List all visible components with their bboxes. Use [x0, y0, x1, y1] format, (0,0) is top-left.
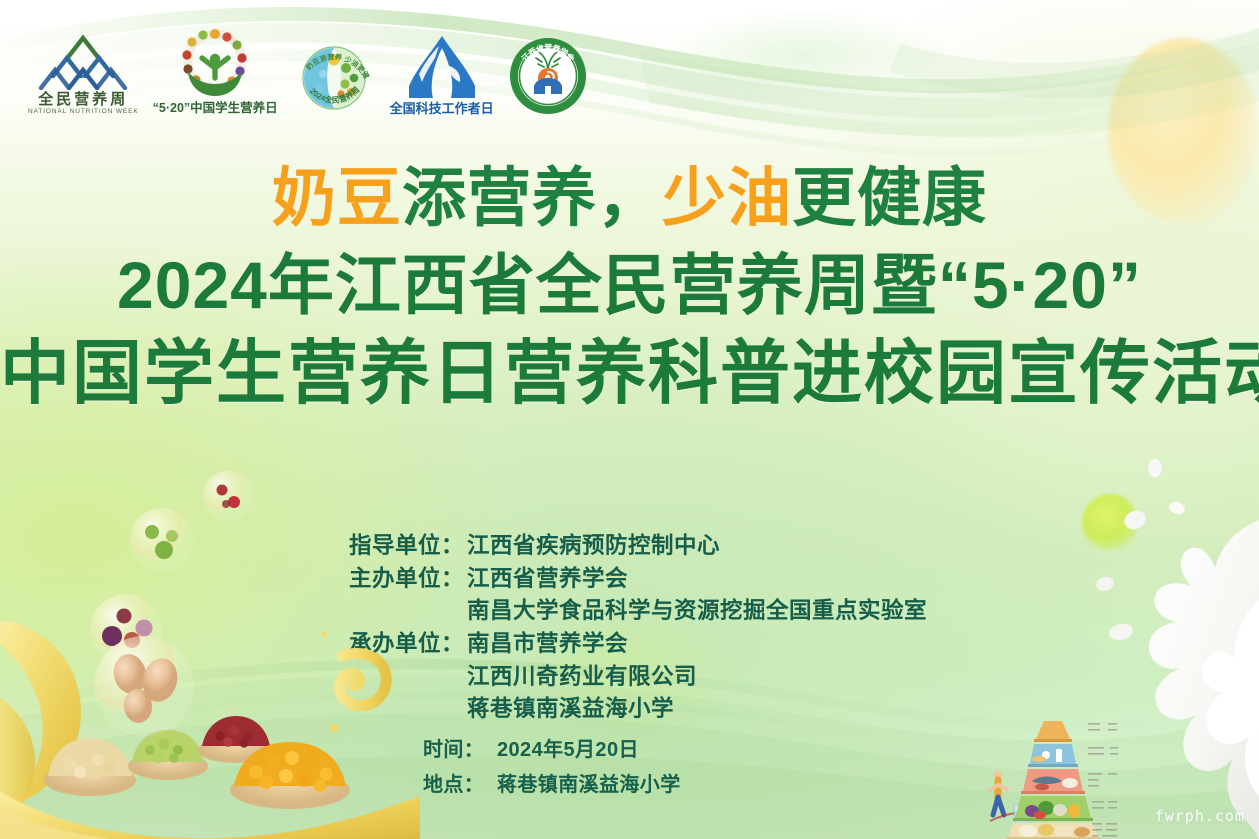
- credit-row: 承办单位： 南昌市营养学会: [349, 628, 927, 661]
- green-haze-blob: [655, 10, 955, 100]
- slogan-part-shaoyou: 少油: [662, 162, 792, 234]
- blue-wings-530-icon: 530: [403, 34, 481, 100]
- chevron-pyramid-icon: [37, 28, 129, 90]
- logo-caption: 全民营养周 NATIONAL NUTRITION WEEK: [28, 92, 139, 116]
- logo-jiangxi-nutrition-society: 江西省营养学会 JIANGXI NUTRITION SOCIETY: [508, 36, 588, 116]
- circular-seal-icon: 江西省营养学会 JIANGXI NUTRITION SOCIETY: [508, 36, 588, 116]
- credit-value: 江西川奇药业有限公司: [467, 661, 697, 694]
- logo-caption: 全国科技工作者日: [390, 102, 494, 116]
- title-line-1: 2024年江西省全民营养周暨“5·20”: [0, 252, 1259, 318]
- egg-bubble-illustration: [84, 626, 204, 746]
- logo-nutrition-week-2024: 奶豆添营养 少油更健康 2024全民营养周: [292, 34, 376, 116]
- logo-530-text: 530: [433, 87, 450, 98]
- credit-label: 主办单位：: [349, 563, 467, 596]
- credit-value: 江西省疾病预防控制中心: [467, 530, 720, 563]
- lime-dot-blob: [1082, 494, 1138, 550]
- bean-bubbles-illustration: [30, 440, 290, 700]
- credit-row: 指导单位： 江西川奇药业有限公司: [349, 661, 927, 694]
- credit-row: 主办单位： 江西省营养学会: [349, 563, 927, 596]
- logo-row: 全民营养周 NATIONAL NUTRITION WEEK: [28, 28, 588, 116]
- slogan-comma: ，: [597, 162, 662, 234]
- logo-national-nutrition-week: 全民营养周 NATIONAL NUTRITION WEEK: [28, 28, 139, 116]
- logo-caption-cn: 全国科技工作者日: [390, 102, 494, 116]
- round-nutrition-badge-icon: 奶豆添营养 少油更健康 2024全民营养周: [292, 34, 376, 116]
- meta-label-time: 时间：: [423, 733, 497, 768]
- logo-caption-en: NATIONAL NUTRITION WEEK: [28, 109, 139, 116]
- chinese-dietary-pagoda-illustration: [984, 717, 1119, 839]
- credit-row: 指导单位： 蒋巷镇南溪益海小学: [349, 693, 927, 726]
- credit-label: 承办单位：: [349, 628, 467, 661]
- site-watermark: fwrph.com: [1155, 807, 1245, 825]
- credit-row: 指导单位： 江西省疾病预防控制中心: [349, 530, 927, 563]
- title-line-2: 中国学生营养日营养科普进校园宣传活动: [0, 338, 1259, 408]
- logo-caption-cn: “5·20”中国学生营养日: [153, 102, 278, 115]
- credit-value: 蒋巷镇南溪益海小学: [467, 693, 674, 726]
- logo-caption: “5·20”中国学生营养日: [153, 102, 278, 115]
- slogan-part-tianyingyang: 添营养: [402, 162, 597, 234]
- running-figure-icon: [989, 771, 1020, 822]
- milk-splash-illustration: [1009, 400, 1259, 839]
- credit-value: 南昌大学食品科学与资源挖掘全国重点实验室: [467, 595, 927, 628]
- slogan-part-genggjiankang: 更健康: [792, 162, 987, 234]
- credit-row: 指导单位： 南昌大学食品科学与资源挖掘全国重点实验室: [349, 595, 927, 628]
- meta-row-place: 地点： 蒋巷镇南溪益海小学: [423, 768, 681, 803]
- meta-value-time: 2024年5月20日: [497, 733, 639, 768]
- meta-label-place: 地点：: [423, 768, 497, 803]
- logo-china-student-nutrition-day: “5·20”中国学生营养日: [153, 28, 278, 115]
- slogan-line: 奶豆添营养，少油更健康: [0, 166, 1259, 230]
- logo-caption-cn: 全民营养周: [28, 92, 139, 108]
- event-meta-block: 时间： 2024年5月20日 地点： 蒋巷镇南溪益海小学: [423, 733, 681, 803]
- water-glass-icon: [1014, 805, 1030, 829]
- meta-value-place: 蒋巷镇南溪益海小学: [497, 768, 681, 803]
- poster-canvas: 全民营养周 NATIONAL NUTRITION WEEK: [0, 0, 1259, 839]
- credits-block: 指导单位： 江西省疾病预防控制中心 主办单位： 江西省营养学会 指导单位： 南昌…: [349, 530, 927, 726]
- logo-science-workers-day: 530 全国科技工作者日: [390, 34, 494, 116]
- credit-value: 南昌市营养学会: [467, 628, 628, 661]
- credit-label: 指导单位：: [349, 530, 467, 563]
- slogan-part-naidou: 奶豆: [272, 162, 402, 234]
- credit-value: 江西省营养学会: [467, 563, 628, 596]
- meta-row-time: 时间： 2024年5月20日: [423, 733, 681, 768]
- headline-block: 奶豆添营养，少油更健康 2024年江西省全民营养周暨“5·20” 中国学生营养日…: [0, 166, 1259, 408]
- hands-figure-food-circle-icon: [178, 28, 252, 100]
